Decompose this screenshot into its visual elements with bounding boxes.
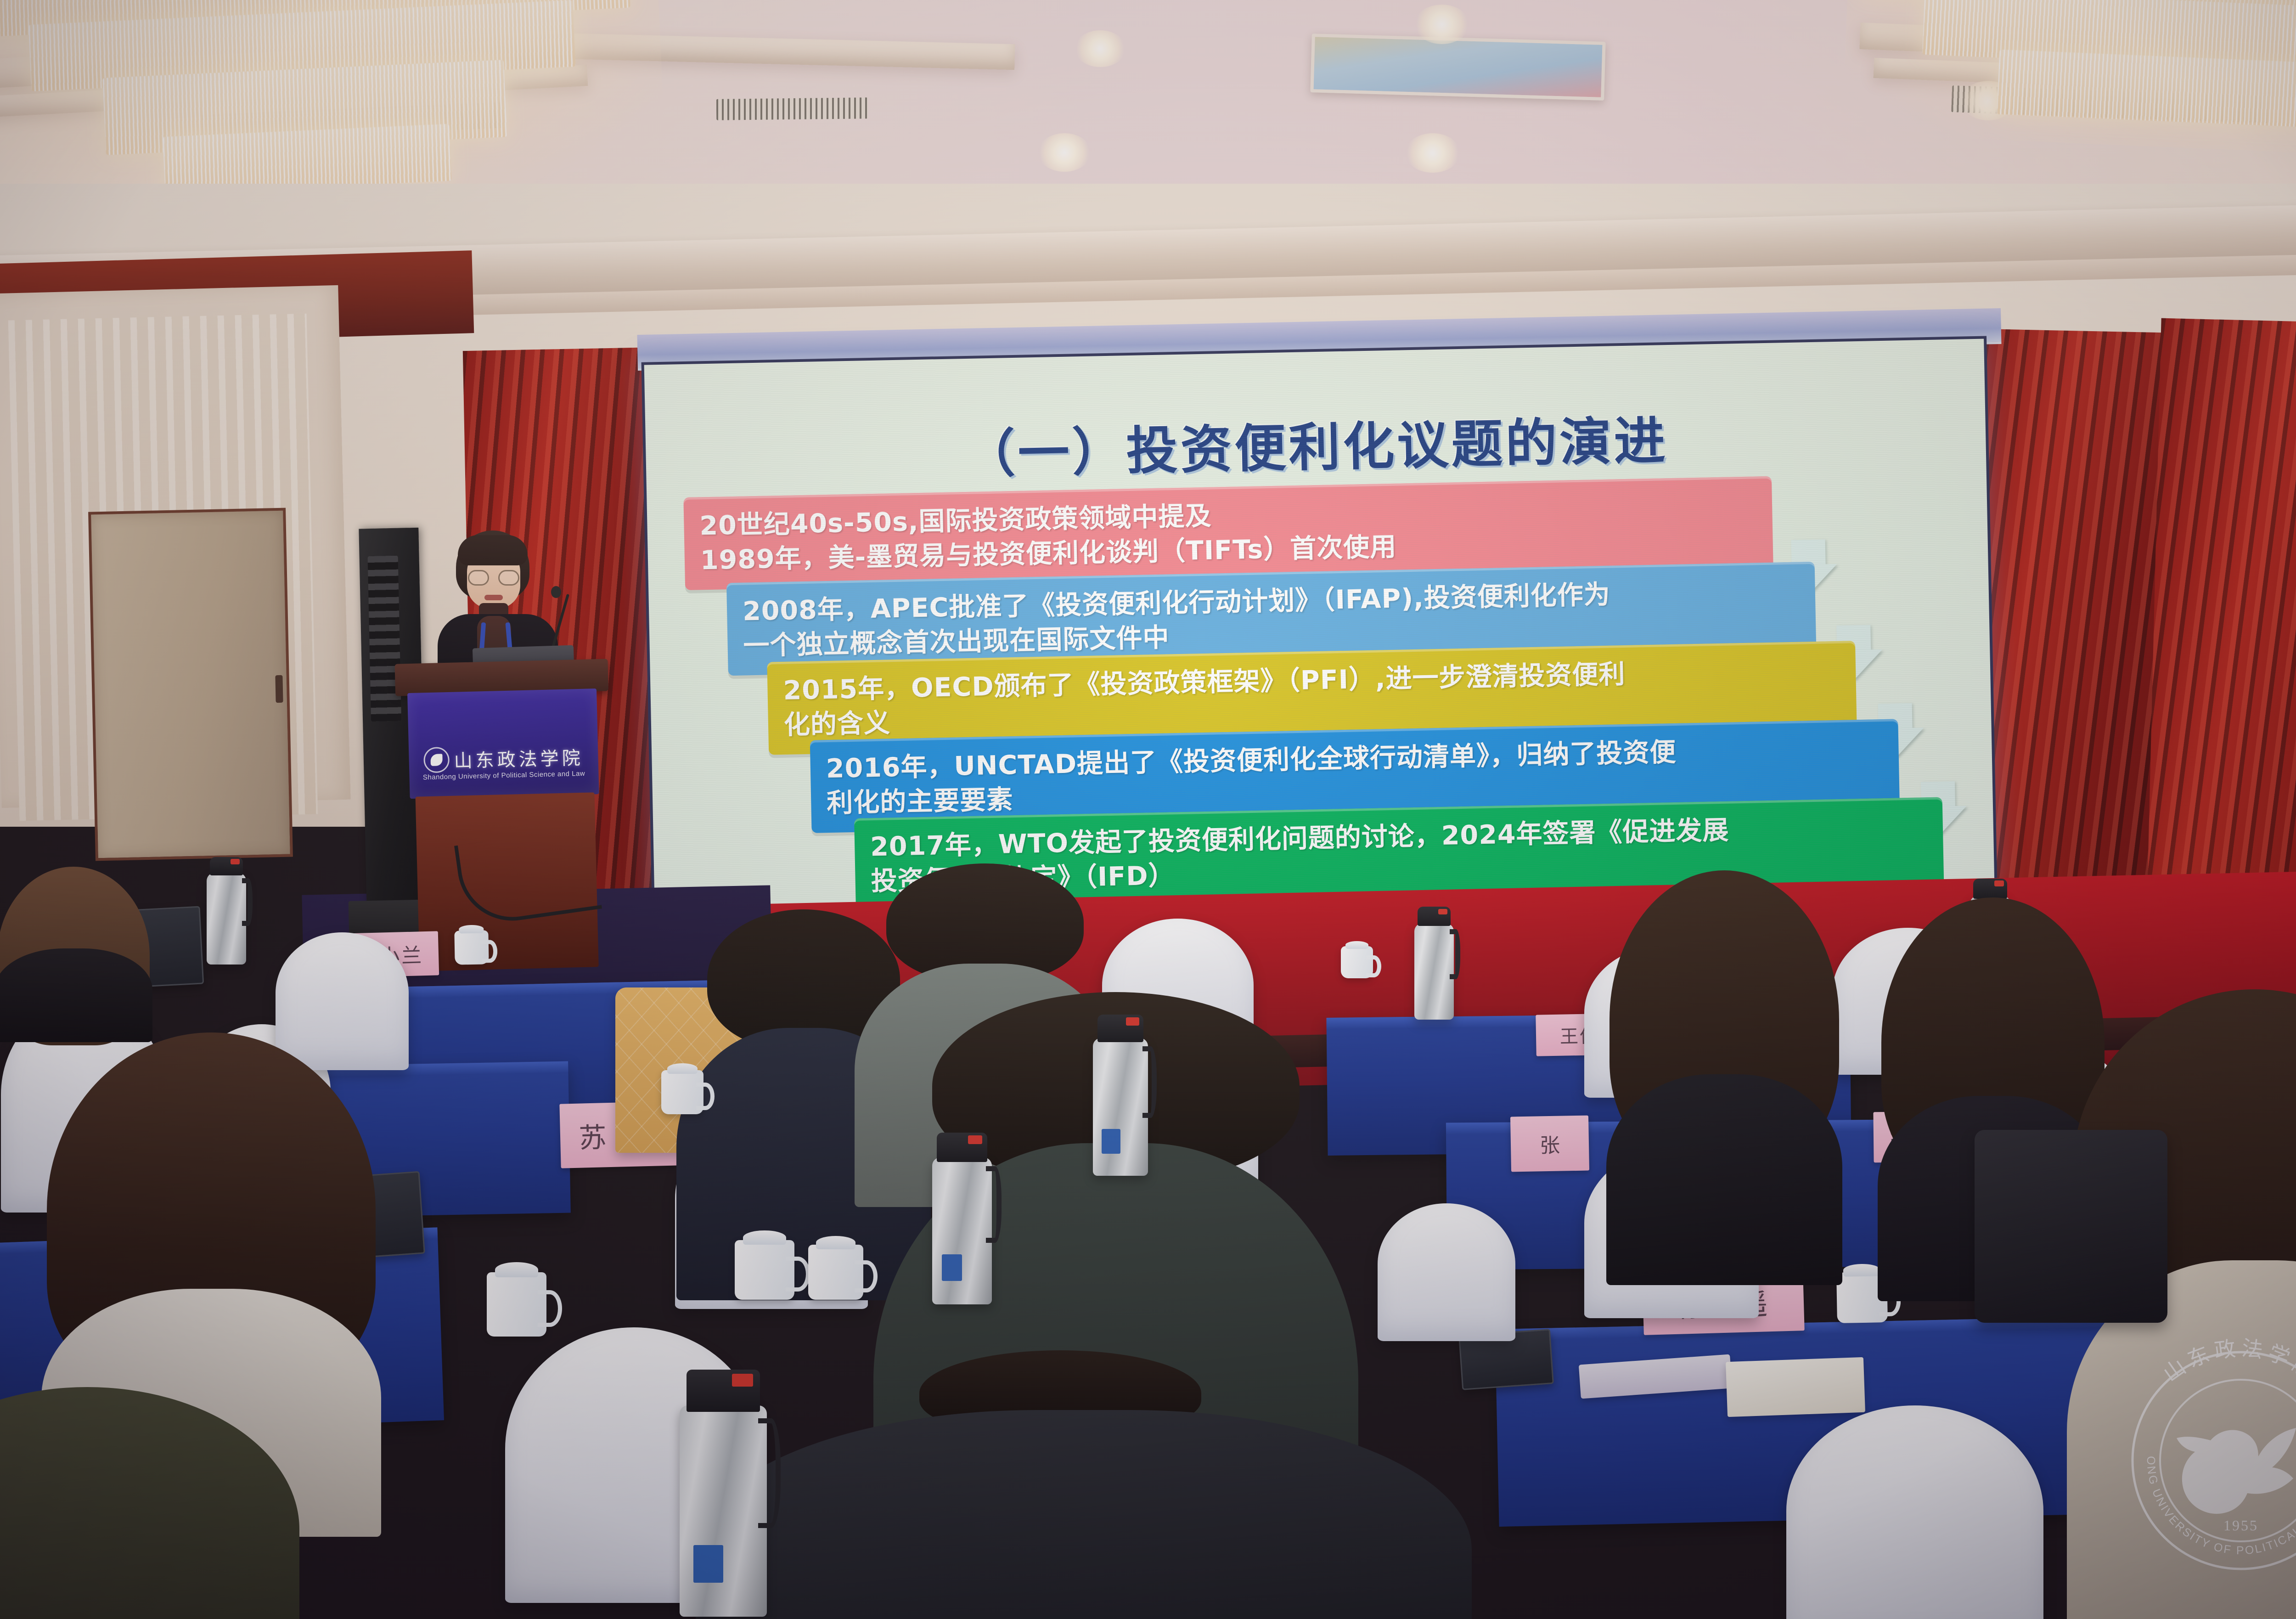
thermos-flask (932, 1157, 992, 1304)
teacup (808, 1245, 863, 1300)
lectern-front-panel: 山东政法学院 Shandong University of Political … (407, 688, 599, 799)
slide-title: （一）投资便利化议题的演进 (645, 393, 1986, 494)
speaker-grille (368, 556, 402, 722)
presenter-mouth (484, 595, 503, 600)
ceiling-downlight (1414, 5, 1469, 44)
watermark-year: 1955 (2223, 1517, 2258, 1534)
ceiling-downlight (1038, 133, 1091, 172)
handbag (1975, 1130, 2167, 1323)
thermos-flask (1093, 1038, 1148, 1176)
university-seal-icon (423, 747, 450, 773)
audience-member (14, 863, 133, 1015)
teacup (661, 1070, 703, 1114)
dove-emblem-icon (2177, 1428, 2296, 1514)
ceiling-downlight (1405, 133, 1460, 173)
door-handle[interactable] (275, 675, 283, 703)
teacup (454, 930, 489, 965)
conference-photo: （一）投资便利化议题的演进 20世纪40s-50s,国际投资政策领域中提及 19… (0, 0, 2296, 1619)
audience-member (790, 1350, 1378, 1619)
teacup (1341, 946, 1373, 978)
svg-text:山东政法学院: 山东政法学院 (2159, 1336, 2296, 1387)
name-card: 张 (1510, 1116, 1589, 1172)
thermos-flask (680, 1405, 767, 1617)
led-screen: （一）投资便利化议题的演进 20世纪40s-50s,国际投资政策领域中提及 19… (642, 336, 1998, 913)
handout-paper (1726, 1357, 1865, 1417)
presentation-slide: （一）投资便利化议题的演进 20世纪40s-50s,国际投资政策领域中提及 19… (644, 339, 1995, 911)
watermark-name-cn: 山东政法学院 (2159, 1336, 2296, 1387)
ceiling-access-hatch (1310, 34, 1605, 101)
presenter-fringe (458, 535, 528, 565)
person-jacket (696, 1410, 1472, 1619)
audience-member (0, 1387, 248, 1619)
microphone-head (551, 586, 561, 598)
person-jacket (1606, 1074, 1843, 1285)
audience-chair[interactable] (1378, 1203, 1515, 1341)
thermos-flask (1414, 923, 1454, 1020)
hall-door[interactable] (88, 508, 293, 861)
ceiling-downlight (1075, 30, 1126, 67)
audience-member (1635, 863, 1814, 1203)
university-watermark: 山东政法学院 SHANDONG UNIVERSITY OF POLITICAL … (2112, 1332, 2296, 1589)
teacup (487, 1272, 546, 1337)
ceiling-downlight (1961, 81, 2016, 120)
audience-chair[interactable] (1786, 1405, 2043, 1619)
teacup (735, 1240, 794, 1300)
air-vent-grille (716, 97, 868, 120)
thermos-flask (207, 873, 246, 965)
lectern-university-name-cn: 山东政法学院 (454, 743, 584, 773)
red-stage-curtain-far-right (2146, 318, 2296, 950)
lectern-logo-row: 山东政法学院 (409, 743, 598, 774)
glasses-icon (467, 570, 520, 586)
audience-member (83, 1024, 340, 1438)
